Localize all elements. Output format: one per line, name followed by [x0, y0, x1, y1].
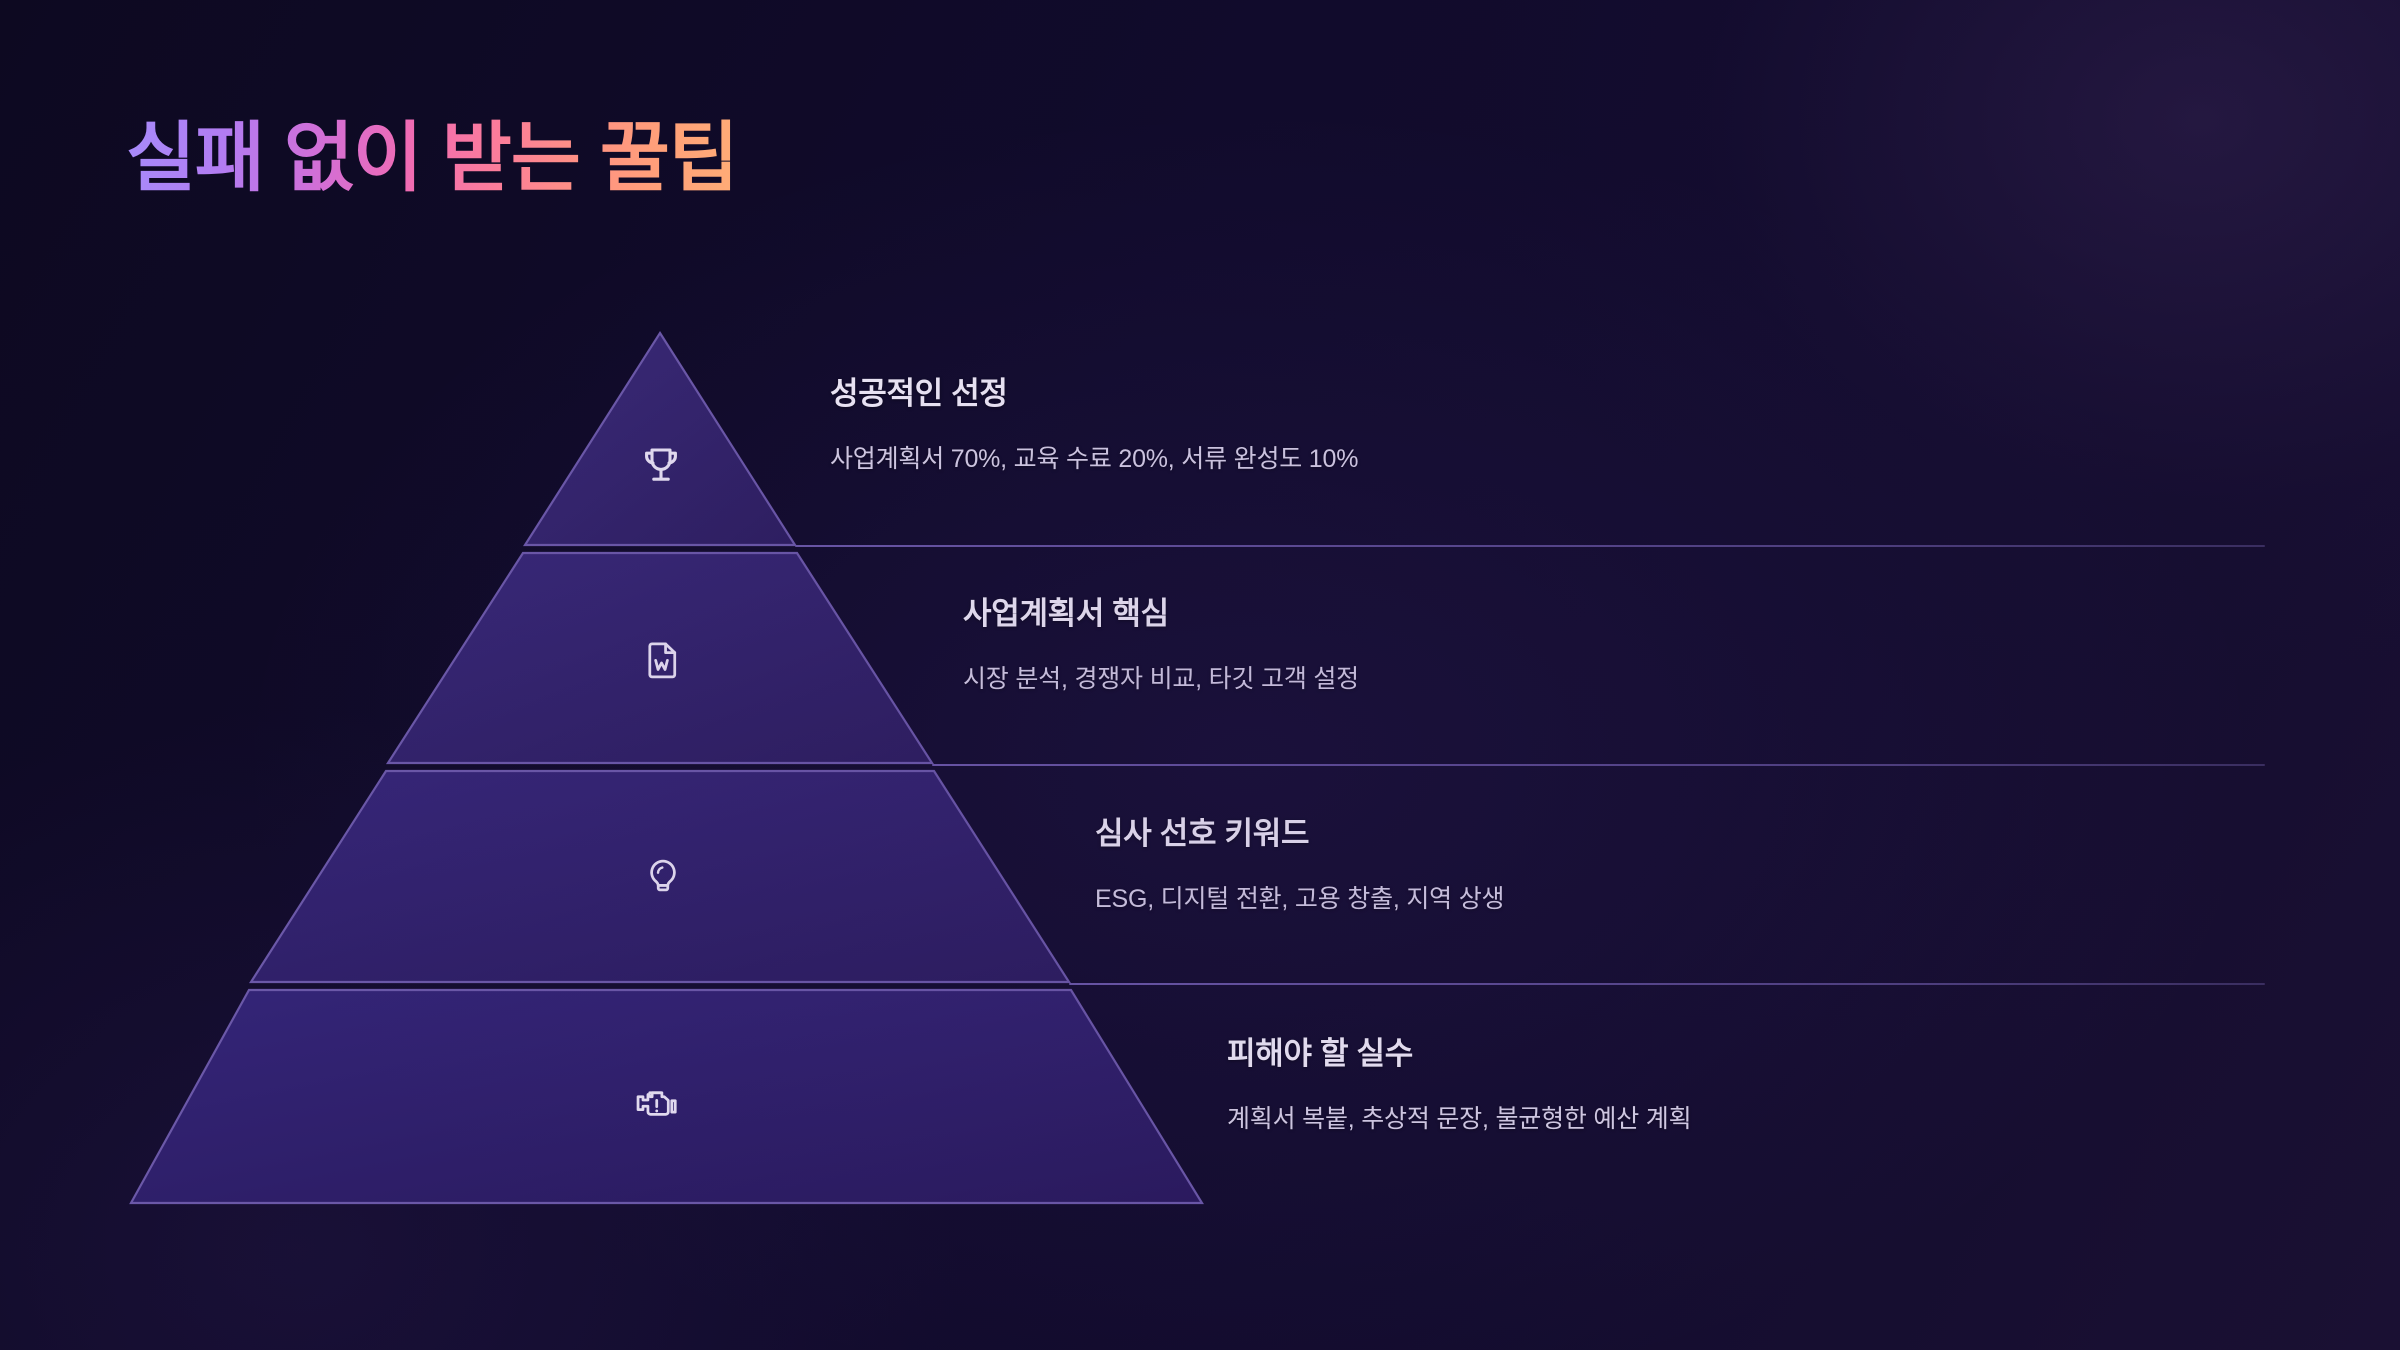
word-document-icon: [641, 638, 685, 682]
engine-warning-icon: [632, 1085, 680, 1129]
tier-divider-1: [795, 545, 2265, 547]
tier-3-description: ESG, 디지털 전환, 고용 창출, 지역 상생: [1095, 879, 1504, 915]
tier-1-title: 성공적인 선정: [830, 368, 1358, 413]
tier-4-description: 계획서 복붙, 추상적 문장, 불균형한 예산 계획: [1227, 1099, 1691, 1135]
tier-divider-2: [932, 764, 2265, 766]
tier-divider-3: [1069, 983, 2265, 985]
tier-3-title: 심사 선호 키워드: [1095, 808, 1504, 853]
slide-canvas: 실패 없이 받는 꿀팁: [0, 0, 2400, 1350]
pyramid-tier-4-text: 피해야 할 실수 계획서 복붙, 추상적 문장, 불균형한 예산 계획: [1227, 1028, 1691, 1135]
tier-2-description: 시장 분석, 경쟁자 비교, 타깃 고객 설정: [963, 659, 1359, 695]
tier-1-description: 사업계획서 70%, 교육 수료 20%, 서류 완성도 10%: [830, 439, 1358, 475]
tier-4-title: 피해야 할 실수: [1227, 1028, 1691, 1073]
tier-2-title: 사업계획서 핵심: [963, 588, 1359, 633]
pyramid-tier-1-shape[interactable]: [525, 333, 795, 545]
trophy-icon: [637, 442, 685, 490]
pyramid-tier-2-text: 사업계획서 핵심 시장 분석, 경쟁자 비교, 타깃 고객 설정: [963, 588, 1359, 695]
pyramid-tier-1-text: 성공적인 선정 사업계획서 70%, 교육 수료 20%, 서류 완성도 10%: [830, 368, 1358, 475]
lightbulb-icon: [641, 856, 685, 900]
pyramid-tier-3-text: 심사 선호 키워드 ESG, 디지털 전환, 고용 창출, 지역 상생: [1095, 808, 1504, 915]
page-title: 실패 없이 받는 꿀팁: [126, 118, 738, 200]
